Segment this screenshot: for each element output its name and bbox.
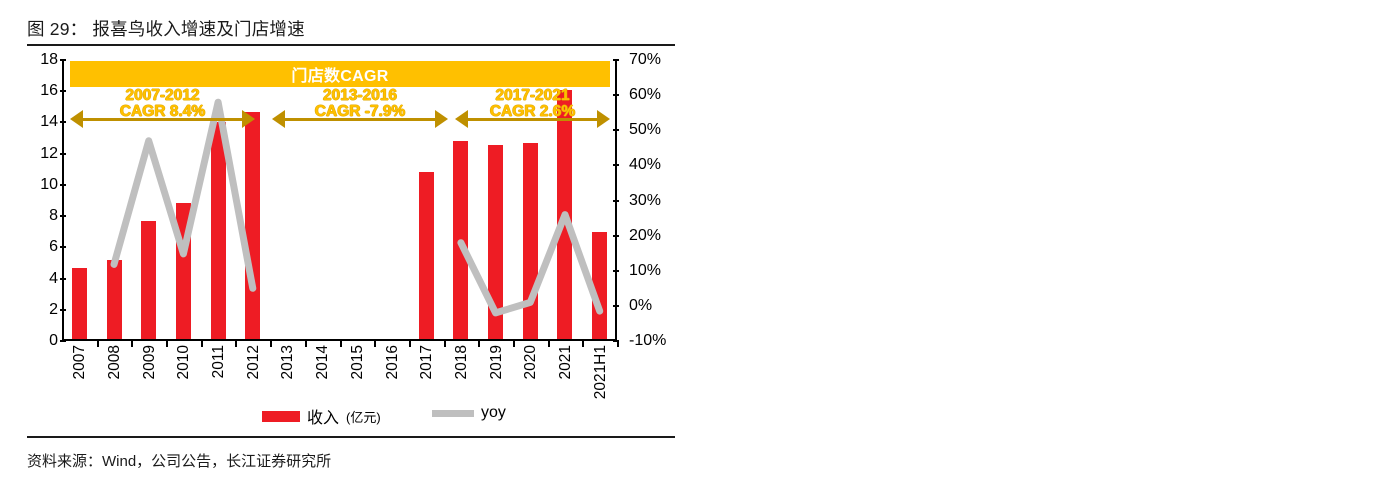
left-chart-tickmark-right <box>613 200 619 202</box>
cagr-segment-label: 2013-2016CAGR -7.9% <box>272 88 448 121</box>
left-chart-tickmark <box>60 90 66 92</box>
left-chart-y2-tick: 10% <box>629 262 661 280</box>
left-chart-tickmark-right <box>613 340 619 342</box>
cagr-arrow-right-head <box>597 110 610 128</box>
left-chart-x-label: 2016 <box>384 345 402 379</box>
left-chart-tickmark <box>60 59 66 61</box>
cagr-arrow-right-head <box>242 110 255 128</box>
left-chart-tickmark-right <box>613 129 619 131</box>
left-chart-tickmark-right <box>613 270 619 272</box>
left-chart-legend-item: yoy <box>432 404 506 422</box>
left-chart-y-tick: 2 <box>49 301 58 319</box>
left-chart-y-tick: 4 <box>49 270 58 288</box>
left-chart-y-tick: 0 <box>49 332 58 350</box>
report-figures-page: 图 29： 报喜鸟收入增速及门店增速 024681012141618 -10%0… <box>0 0 1398 491</box>
cagr-arrow-line <box>83 118 242 121</box>
left-chart-tickmark-right <box>613 305 619 307</box>
left-chart-y-tick: 12 <box>40 145 58 163</box>
left-chart-legend: 收入(亿元)yoy <box>62 404 622 426</box>
left-chart-y2-tick: 40% <box>629 156 661 174</box>
cagr-arrow-left-head <box>70 110 83 128</box>
left-chart-tickmark <box>60 121 66 123</box>
left-chart-tickmark <box>60 246 66 248</box>
left-chart-y2-tick: 0% <box>629 297 652 315</box>
figure-29-source: 资料来源：Wind，公司公告，长江证券研究所 <box>27 450 331 471</box>
left-chart-y-tick: 14 <box>40 113 58 131</box>
left-chart-x-label: 2012 <box>245 345 263 379</box>
cagr-arrow-line <box>285 118 435 121</box>
legend-swatch-bar <box>262 411 300 422</box>
left-chart-tickmark <box>60 309 66 311</box>
left-chart-y2-tick: -10% <box>629 332 666 350</box>
left-chart-tickmark <box>60 278 66 280</box>
left-chart-tickmark <box>60 184 66 186</box>
left-chart-x-label: 2018 <box>453 345 471 379</box>
legend-label: 收入 <box>307 404 339 428</box>
legend-swatch-line <box>432 410 474 417</box>
left-chart-tickmark-right <box>613 94 619 96</box>
left-chart-y2-tick: 20% <box>629 227 661 245</box>
left-chart-y2-tick: 50% <box>629 121 661 139</box>
left-chart-x-label: 2009 <box>141 345 159 379</box>
legend-label: yoy <box>481 404 506 422</box>
left-chart-tickmark <box>60 153 66 155</box>
cagr-arrow-right-head <box>435 110 448 128</box>
left-chart-x-label: 2010 <box>175 345 193 379</box>
left-chart-tickmark <box>60 340 66 342</box>
left-chart-axis-left <box>62 60 64 341</box>
left-chart-x-label: 2011 <box>210 345 228 378</box>
left-chart-axis-bottom <box>62 339 617 341</box>
left-chart-y-axis-right: -10%0%10%20%30%40%50%60%70% <box>621 60 673 341</box>
cagr-period: 2013-2016 <box>272 88 448 104</box>
source-divider-left <box>27 436 675 438</box>
left-chart-x-label: 2020 <box>522 345 540 379</box>
left-chart-tickmark-right <box>613 164 619 166</box>
figure-29-caption: 图 29： 报喜鸟收入增速及门店增速 <box>27 16 305 41</box>
cagr-period: 2017-2021 <box>455 88 610 104</box>
left-chart-x-axis-labels: 2007200820092010201120122013201420152016… <box>62 345 617 407</box>
left-chart-x-label: 2008 <box>106 345 124 379</box>
left-chart-x-label: 2017 <box>418 345 436 379</box>
left-chart-x-label: 2015 <box>349 345 367 379</box>
left-chart-y-axis-left: 024681012141618 <box>14 60 58 341</box>
left-chart-y-tick: 18 <box>40 51 58 69</box>
left-chart-tickmark-right <box>613 59 619 61</box>
figure-29-panel: 图 29： 报喜鸟收入增速及门店增速 024681012141618 -10%0… <box>0 0 700 491</box>
left-chart-x-label: 2014 <box>314 345 332 379</box>
store-cagr-banner: 门店数CAGR <box>70 61 610 87</box>
cagr-arrow-left-head <box>272 110 285 128</box>
left-chart-tickmark <box>60 215 66 217</box>
left-chart-x-label: 2007 <box>71 345 89 379</box>
left-chart-y-tick: 16 <box>40 82 58 100</box>
cagr-period: 2007-2012 <box>70 88 255 104</box>
cagr-segment-label: 2017-2021CAGR 2.6% <box>455 88 610 121</box>
cagr-arrow-line <box>468 118 597 121</box>
legend-label-unit: (亿元) <box>346 407 381 426</box>
left-chart-y2-tick: 70% <box>629 51 661 69</box>
left-chart-legend-item: 收入(亿元) <box>262 404 381 428</box>
figure-30-panel: 图 30： 报喜鸟 17-21 年收入 CAGR 优于可比性商务男装品牌 201… <box>700 0 1398 491</box>
left-chart-x-label: 2021H1 <box>592 345 610 399</box>
left-chart-y2-tick: 60% <box>629 86 661 104</box>
left-chart-y-tick: 6 <box>49 238 58 256</box>
left-chart-y-tick: 10 <box>40 176 58 194</box>
caption-divider-left <box>27 44 675 46</box>
cagr-segment-label: 2007-2012CAGR 8.4% <box>70 88 255 121</box>
left-chart-x-label: 2021 <box>557 345 575 379</box>
left-chart-y-tick: 8 <box>49 207 58 225</box>
left-chart-x-label: 2013 <box>279 345 297 379</box>
left-chart-y2-tick: 30% <box>629 192 661 210</box>
cagr-arrow-left-head <box>455 110 468 128</box>
left-chart-x-label: 2019 <box>488 345 506 379</box>
left-chart-tickmark-right <box>613 235 619 237</box>
